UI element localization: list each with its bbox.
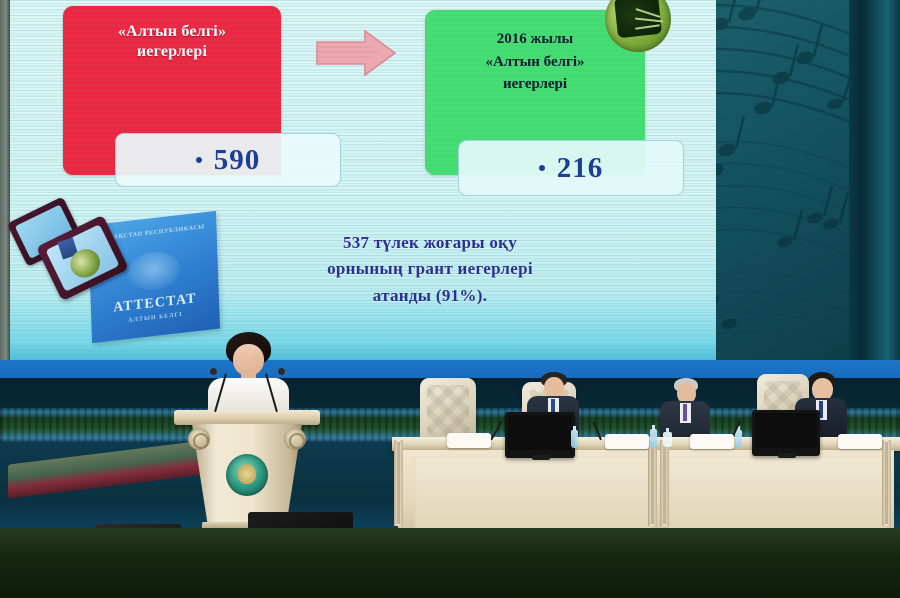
microphone-left-head bbox=[210, 368, 217, 375]
table-column-2 bbox=[648, 440, 657, 526]
green-card-title-line3: иегерлері bbox=[425, 73, 645, 96]
table-column-3 bbox=[660, 440, 669, 526]
water-bottle-3 bbox=[735, 430, 742, 448]
summary-line1: 537 түлек жоғары оқу bbox=[265, 230, 595, 256]
podium-scroll-right bbox=[284, 428, 306, 450]
microphone-right-head bbox=[278, 368, 285, 375]
water-bottle-1 bbox=[571, 430, 578, 448]
slide-summary-text: 537 түлек жоғары оқу орнының грант иегер… bbox=[265, 230, 595, 309]
water-bottle-2 bbox=[650, 429, 657, 448]
name-placard-4 bbox=[838, 434, 882, 449]
hall-right-wall bbox=[875, 0, 900, 380]
green-card-value: 216 bbox=[557, 152, 604, 185]
monitor-1-stand bbox=[532, 455, 550, 460]
table-panel-right bbox=[668, 456, 886, 536]
water-glass bbox=[663, 432, 672, 447]
summary-line3: атанды (91%). bbox=[265, 283, 595, 309]
name-placard-1 bbox=[447, 433, 491, 448]
red-card-title-line2: иегерлері bbox=[63, 42, 281, 62]
hall-left-wall-strip bbox=[0, 0, 10, 380]
speaker-at-podium bbox=[200, 332, 296, 418]
podium-scroll-left bbox=[188, 428, 210, 450]
projection-screen: «Алтын белгі» иегерлері 590 2016 жылы «А… bbox=[10, 0, 716, 372]
right-arrow-icon bbox=[313, 28, 399, 78]
green-card-value-box: 216 bbox=[458, 140, 684, 196]
floral-arrangement bbox=[0, 528, 900, 598]
red-card-title: «Алтын белгі» иегерлері bbox=[63, 22, 281, 63]
red-card-title-line1: «Алтын белгі» bbox=[63, 22, 281, 42]
wall-panel-edge bbox=[849, 0, 875, 372]
name-placard-2 bbox=[605, 434, 649, 449]
music-notation-wall-panel bbox=[715, 0, 875, 372]
table-column-1 bbox=[394, 440, 403, 526]
podium-top-surface bbox=[174, 410, 320, 425]
red-card-value: 590 bbox=[214, 144, 261, 177]
person-3-tie bbox=[683, 404, 687, 421]
bullet-icon bbox=[196, 157, 202, 163]
green-card-title-line2: «Алтын белгі» bbox=[425, 51, 645, 74]
kazakhstan-state-emblem-icon bbox=[226, 454, 268, 496]
monitor-2-stand bbox=[778, 453, 796, 458]
certificate-photo: ҚАЗАҚСТАН РЕСПУБЛИКАСЫ АТТЕСТАТ АЛТЫН БЕ… bbox=[18, 196, 224, 346]
bullet-icon bbox=[539, 165, 545, 171]
table-panel-left bbox=[414, 456, 652, 536]
summary-line2: орнының грант иегерлері bbox=[265, 256, 595, 282]
name-placard-3 bbox=[690, 434, 734, 449]
presidium-monitor-2 bbox=[752, 410, 820, 456]
screenshot-root: «Алтын белгі» иегерлері 590 2016 жылы «А… bbox=[0, 0, 900, 598]
red-card-value-box: 590 bbox=[115, 133, 341, 187]
foliage-base bbox=[0, 528, 900, 598]
presidium-monitor-1 bbox=[505, 412, 575, 458]
table-column-4 bbox=[882, 440, 891, 526]
